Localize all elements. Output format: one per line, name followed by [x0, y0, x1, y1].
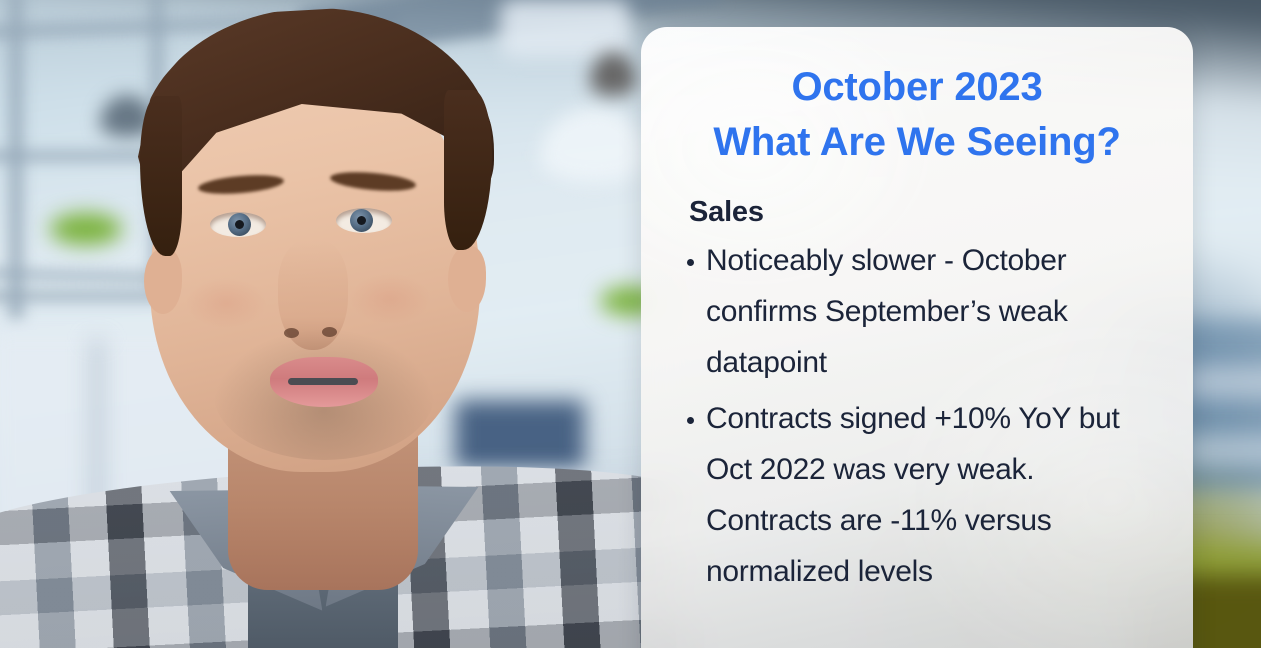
hair-sideburn-right — [444, 90, 492, 250]
ear-right — [448, 246, 486, 312]
presenter — [0, 0, 660, 648]
slide-card: October 2023 What Are We Seeing? Sales N… — [641, 27, 1193, 648]
list-item: Contracts signed +10% YoY but Oct 2022 w… — [685, 393, 1163, 597]
cheek-right — [350, 274, 430, 324]
video-slide-frame: October 2023 What Are We Seeing? Sales N… — [0, 0, 1261, 648]
cheek-left — [186, 278, 266, 328]
pupil-left — [235, 220, 244, 229]
title-line-2: What Are We Seeing? — [671, 115, 1163, 170]
pupil-right — [357, 216, 366, 225]
page-title: October 2023 What Are We Seeing? — [671, 27, 1163, 170]
list-item: Noticeably slower - October confirms Sep… — [685, 235, 1163, 388]
shelf-panel — [1185, 365, 1261, 399]
slide-content: October 2023 What Are We Seeing? Sales N… — [641, 27, 1193, 597]
bullet-list: Noticeably slower - October confirms Sep… — [671, 235, 1163, 597]
title-line-1: October 2023 — [671, 60, 1163, 115]
shelf-panel — [1185, 435, 1261, 465]
ear-left — [144, 248, 182, 314]
section-heading-sales: Sales — [689, 196, 1163, 229]
hair-sideburn-left — [140, 96, 182, 256]
mouth-opening — [288, 378, 358, 385]
